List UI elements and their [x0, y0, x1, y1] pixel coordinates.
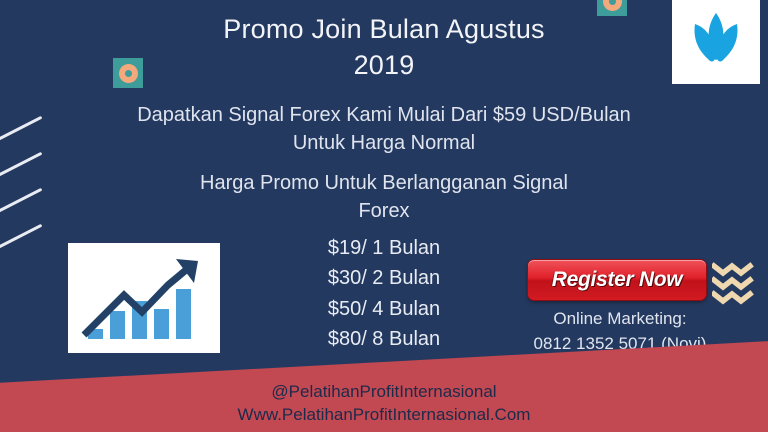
promo-price-line-1: Harga Promo Untuk Berlangganan Signal: [0, 169, 768, 197]
normal-price-line-1: Dapatkan Signal Forex Kami Mulai Dari $5…: [0, 101, 768, 129]
footer-text: @PelatihanProfitInternasional Www.Pelati…: [0, 380, 768, 426]
normal-price-paragraph: Dapatkan Signal Forex Kami Mulai Dari $5…: [0, 101, 768, 158]
headline-line-1: Promo Join Bulan Agustus: [0, 12, 768, 48]
page-title: Promo Join Bulan Agustus 2019: [0, 12, 768, 83]
register-now-button[interactable]: Register Now: [528, 260, 706, 300]
price-item: $19/ 1 Bulan: [0, 233, 768, 263]
promo-price-paragraph: Harga Promo Untuk Berlangganan Signal Fo…: [0, 169, 768, 226]
promo-poster: Promo Join Bulan Agustus 2019 Dapatkan S…: [0, 0, 768, 432]
social-handle[interactable]: @PelatihanProfitInternasional: [0, 380, 768, 403]
dot-ring: [603, 0, 622, 11]
website-url[interactable]: Www.PelatihanProfitInternasional.Com: [0, 403, 768, 426]
contact-label: Online Marketing:: [506, 307, 734, 332]
headline-line-2: 2019: [0, 48, 768, 84]
normal-price-line-2: Untuk Harga Normal: [0, 129, 768, 157]
promo-price-line-2: Forex: [0, 197, 768, 225]
dot-core: [609, 0, 616, 5]
body-copy: Dapatkan Signal Forex Kami Mulai Dari $5…: [0, 101, 768, 226]
